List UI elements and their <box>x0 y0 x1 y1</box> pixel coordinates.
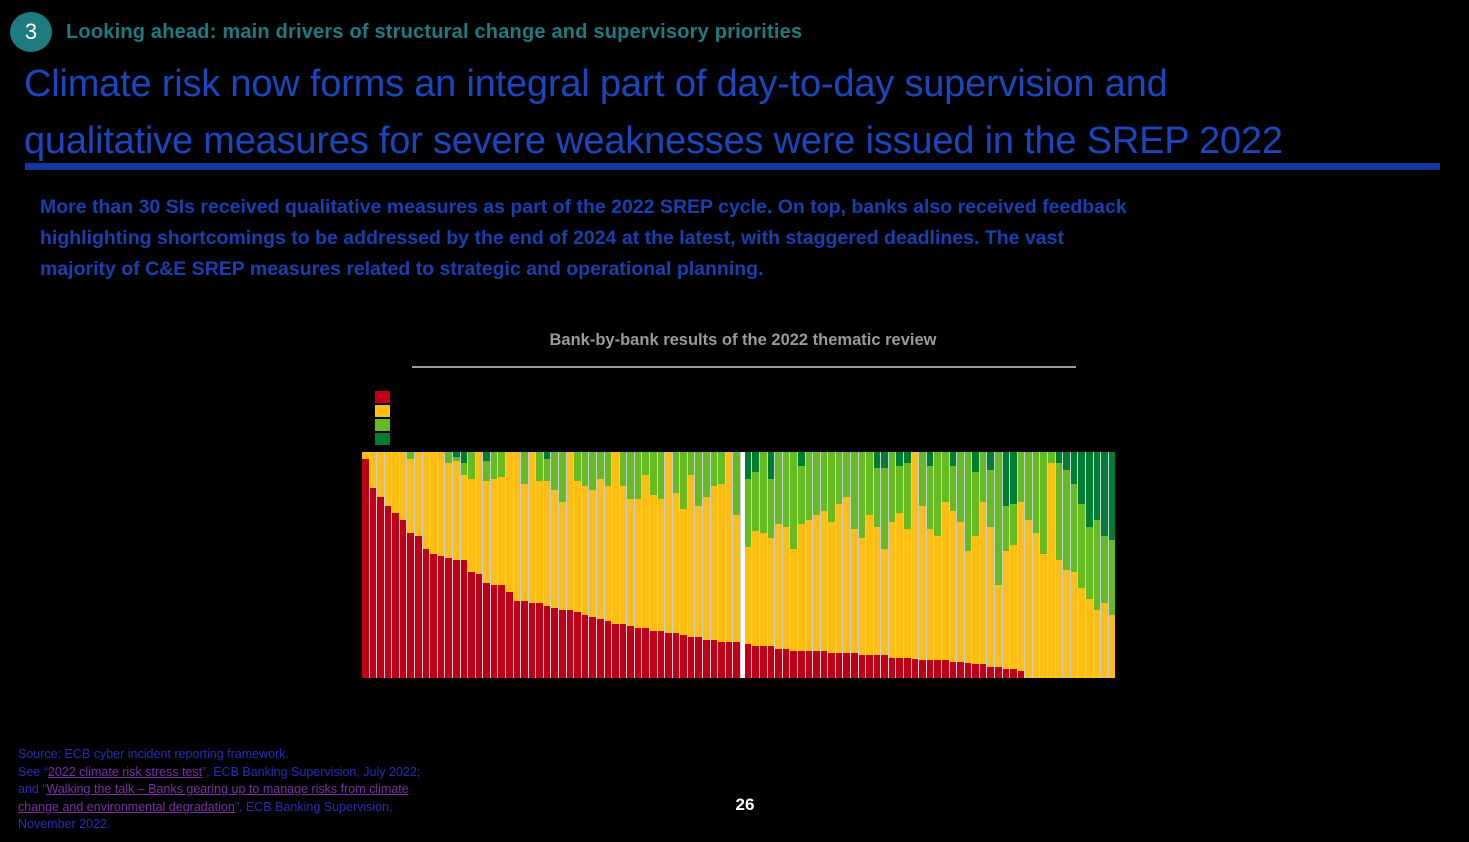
bar-segment-red <box>950 662 957 678</box>
bar-segment-lightgreen <box>836 452 843 504</box>
bar-segment-amber <box>597 479 604 619</box>
bar-segment-darkgreen <box>745 452 752 479</box>
bar-segment-lightgreen <box>965 452 972 551</box>
bar-segment-lightgreen <box>1101 536 1108 604</box>
bar-segment-red <box>851 653 858 678</box>
bar-segment-red <box>559 610 566 678</box>
bar-column <box>695 452 702 678</box>
bar-segment-amber <box>821 511 828 651</box>
bar-column <box>775 452 782 678</box>
bar-column <box>582 452 589 678</box>
bar-segment-lightgreen <box>775 452 782 524</box>
bar-segment-lightgreen <box>650 452 657 495</box>
bar-segment-amber <box>711 486 718 640</box>
bar-column <box>1003 452 1010 678</box>
bar-column <box>813 452 820 678</box>
bar-segment-lightgreen <box>407 452 414 459</box>
bar-segment-lightgreen <box>904 463 911 529</box>
bar-segment-amber <box>688 475 695 638</box>
bar-segment-lightgreen <box>483 461 490 481</box>
link-climate-risk-stress-test[interactable]: 2022 climate risk stress test <box>48 765 202 779</box>
chart-legend <box>375 391 390 445</box>
bar-segment-red <box>461 560 468 678</box>
bar-segment-red <box>718 642 725 678</box>
bar-segment-darkgreen <box>1078 452 1085 504</box>
bar-segment-amber <box>813 515 820 651</box>
bar-segment-red <box>775 649 782 678</box>
bar-segment-red <box>934 660 941 678</box>
bar-segment-red <box>370 488 377 678</box>
bar-column <box>385 452 392 678</box>
bar-segment-amber <box>673 493 680 633</box>
bar-column <box>859 452 866 678</box>
bar-column <box>711 452 718 678</box>
bar-segment-darkgreen <box>1056 452 1063 463</box>
bar-segment-lightgreen <box>798 466 805 525</box>
bar-column <box>874 452 881 678</box>
bar-column <box>843 452 850 678</box>
bar-segment-lightgreen <box>843 452 850 497</box>
bar-segment-amber <box>798 524 805 651</box>
bar-column <box>987 452 994 678</box>
bar-segment-lightgreen <box>950 466 957 511</box>
bar-segment-amber <box>904 529 911 658</box>
bar-segment-lightgreen <box>889 452 896 522</box>
bar-segment-red <box>423 549 430 678</box>
bar-column <box>821 452 828 678</box>
bar-segment-red <box>821 651 828 678</box>
bar-segment-amber <box>695 506 702 637</box>
bar-column <box>370 452 377 678</box>
bar-segment-amber <box>1033 533 1040 678</box>
bar-segment-red <box>859 655 866 678</box>
bar-segment-amber <box>828 522 835 653</box>
bar-segment-red <box>695 637 702 678</box>
bar-segment-amber <box>642 475 649 629</box>
bar-segment-lightgreen <box>627 452 634 499</box>
bar-column <box>866 452 873 678</box>
bar-segment-amber <box>760 533 767 646</box>
bar-segment-darkgreen <box>1109 452 1115 540</box>
bar-segment-darkgreen <box>927 452 934 466</box>
bar-segment-lightgreen <box>896 466 903 513</box>
bar-segment-darkgreen <box>874 452 881 468</box>
bar-segment-red <box>597 619 604 678</box>
bar-segment-darkgreen <box>1010 452 1017 504</box>
bar-segment-amber <box>934 536 941 660</box>
bar-segment-red <box>498 585 505 678</box>
title-underline <box>25 163 1440 170</box>
bar-segment-amber <box>874 527 881 656</box>
bar-segment-amber <box>680 509 687 636</box>
bar-segment-red <box>536 603 543 678</box>
bar-segment-darkgreen <box>972 452 979 472</box>
bar-segment-red <box>506 592 513 678</box>
bar-column <box>673 452 680 678</box>
bar-segment-amber <box>430 452 437 554</box>
bar-column <box>881 452 888 678</box>
bar-column <box>1056 452 1063 678</box>
bar-column <box>605 452 612 678</box>
bar-column <box>1086 452 1093 678</box>
bar-segment-lightgreen <box>589 452 596 490</box>
bar-segment-amber <box>445 463 452 558</box>
bar-segment-amber <box>919 506 926 660</box>
bar-segment-lightgreen <box>688 452 695 475</box>
bar-segment-lightgreen <box>874 468 881 527</box>
bar-column <box>627 452 634 678</box>
bar-segment-red <box>1003 669 1010 678</box>
bar-segment-red <box>680 635 687 678</box>
bar-segment-red <box>798 651 805 678</box>
bar-column <box>760 452 767 678</box>
bar-segment-amber <box>650 495 657 631</box>
bar-column <box>703 452 710 678</box>
bar-column <box>718 452 725 678</box>
bar-segment-amber <box>1078 588 1085 678</box>
page-title: Climate risk now forms an integral part … <box>24 56 1444 170</box>
bar-segment-lightgreen <box>1109 540 1115 615</box>
bar-column <box>904 452 911 678</box>
bar-segment-amber <box>605 486 612 622</box>
bar-segment-red <box>813 651 820 678</box>
bar-segment-red <box>768 646 775 678</box>
bar-column <box>942 452 949 678</box>
bar-column <box>1094 452 1101 678</box>
bar-segment-amber <box>1071 572 1078 678</box>
bar-column <box>415 452 422 678</box>
source-line-4: change and environmental degradation”, E… <box>18 799 538 817</box>
bar-column <box>950 452 957 678</box>
bar-column <box>514 452 521 678</box>
bar-column <box>567 452 574 678</box>
bar-segment-red <box>362 459 369 678</box>
bar-segment-amber <box>589 490 596 617</box>
bar-segment-amber <box>1025 520 1032 678</box>
bar-segment-red <box>912 659 919 678</box>
bar-column <box>1040 452 1047 678</box>
bar-segment-amber <box>544 481 551 605</box>
bar-segment-red <box>483 583 490 678</box>
source-line-5: November 2022. <box>18 816 538 834</box>
bar-column <box>912 452 919 678</box>
bar-segment-lightgreen <box>881 468 888 549</box>
bar-segment-lightgreen <box>919 452 926 506</box>
bar-segment-darkgreen <box>461 452 468 463</box>
bar-segment-darkgreen <box>1094 452 1101 520</box>
bar-column <box>529 452 536 678</box>
bar-column <box>934 452 941 678</box>
bar-segment-lightgreen <box>790 452 797 549</box>
source-line-3: and “Walking the talk – Banks gearing up… <box>18 781 538 799</box>
bar-segment-darkgreen <box>798 452 805 466</box>
bar-segment-red <box>445 558 452 678</box>
bar-segment-amber <box>896 513 903 658</box>
chart-title: Bank-by-bank results of the 2022 themati… <box>410 331 1076 350</box>
bar-segment-amber <box>1109 615 1115 678</box>
bar-column <box>1025 452 1032 678</box>
bar-segment-lightgreen <box>1056 463 1063 560</box>
bar-segment-lightgreen <box>711 452 718 486</box>
bar-segment-amber <box>783 527 790 649</box>
bar-segment-lightgreen <box>972 472 979 535</box>
bar-segment-red <box>650 631 657 678</box>
bar-column <box>828 452 835 678</box>
bar-segment-lightgreen <box>1040 452 1047 554</box>
bar-segment-red <box>407 533 414 678</box>
bar-segment-amber <box>658 499 665 630</box>
bar-column <box>1018 452 1025 678</box>
bar-column <box>392 452 399 678</box>
bar-segment-red <box>980 664 987 678</box>
bar-column <box>896 452 903 678</box>
bar-segment-amber <box>843 497 850 653</box>
bar-column <box>927 452 934 678</box>
bar-column <box>1063 452 1070 678</box>
bar-column <box>957 452 964 678</box>
bar-segment-amber <box>745 547 752 644</box>
bar-segment-red <box>995 667 1002 678</box>
bar-segment-red <box>438 556 445 678</box>
bar-segment-darkgreen <box>1071 452 1078 484</box>
bar-segment-amber <box>476 452 483 574</box>
bar-segment-lightgreen <box>745 479 752 547</box>
bar-segment-red <box>1010 669 1017 678</box>
source-mid-1: ”, ECB Banking Supervision, July 2022; <box>202 765 420 779</box>
bar-segment-amber <box>957 522 964 662</box>
bar-segment-amber <box>506 452 513 592</box>
bar-segment-amber <box>836 504 843 653</box>
bar-segment-lightgreen <box>635 452 642 499</box>
bar-column <box>476 452 483 678</box>
bar-segment-amber <box>1003 551 1010 669</box>
bar-column <box>377 452 384 678</box>
bar-column <box>995 452 1002 678</box>
bar-column <box>635 452 642 678</box>
bar-segment-red <box>665 633 672 678</box>
bar-segment-red <box>544 606 551 678</box>
source-line-1: Source: ECB cyber incident reporting fra… <box>18 746 538 764</box>
bar-segment-darkgreen <box>1063 452 1070 470</box>
bar-segment-darkgreen <box>904 452 911 463</box>
bar-segment-lightgreen <box>1071 484 1078 572</box>
bar-segment-amber <box>1063 570 1070 678</box>
bar-segment-amber <box>965 551 972 663</box>
bar-column <box>726 452 733 678</box>
bar-segment-lightgreen <box>1094 520 1101 610</box>
bar-segment-amber <box>806 520 813 651</box>
bar-column <box>559 452 566 678</box>
bar-column <box>506 452 513 678</box>
source-see-prefix: See “ <box>18 765 48 779</box>
bar-column <box>783 452 790 678</box>
link-walking-the-talk-cont[interactable]: change and environmental degradation <box>18 800 235 814</box>
bar-column <box>400 452 407 678</box>
bar-column <box>972 452 979 678</box>
bar-column <box>658 452 665 678</box>
bar-segment-red <box>828 653 835 678</box>
bar-segment-red <box>726 642 733 678</box>
bar-segment-red <box>574 612 581 678</box>
bar-segment-amber <box>468 479 475 572</box>
bar-segment-lightgreen <box>605 452 612 486</box>
bar-segment-amber <box>377 452 384 497</box>
bar-segment-red <box>476 574 483 678</box>
bar-column <box>362 452 369 678</box>
bar-segment-lightgreen <box>752 472 759 531</box>
bar-segment-amber <box>392 452 399 513</box>
bar-segment-darkgreen <box>881 452 888 468</box>
bar-segment-lightgreen <box>1018 452 1025 502</box>
bar-segment-red <box>673 633 680 678</box>
bar-segment-red <box>642 628 649 678</box>
link-walking-the-talk[interactable]: Walking the talk – Banks gearing up to m… <box>47 782 409 796</box>
bar-segment-red <box>836 653 843 678</box>
bar-segment-amber <box>851 529 858 653</box>
bar-segment-lightgreen <box>491 452 498 479</box>
bar-segment-lightgreen <box>673 452 680 493</box>
bar-column <box>430 452 437 678</box>
bar-segment-amber <box>1086 599 1093 678</box>
intro-paragraph: More than 30 SIs received qualitative me… <box>40 192 1438 285</box>
bar-segment-lightgreen <box>806 452 813 520</box>
bar-column <box>1071 452 1078 678</box>
legend-swatch-amber <box>375 405 390 417</box>
bar-segment-red <box>430 554 437 678</box>
bar-segment-red <box>491 585 498 678</box>
bar-column <box>889 452 896 678</box>
bar-segment-darkgreen <box>768 452 775 479</box>
bar-column <box>423 452 430 678</box>
bar-segment-red <box>711 640 718 678</box>
bar-segment-amber <box>536 481 543 603</box>
bar-segment-lightgreen <box>934 452 941 536</box>
bar-segment-darkgreen <box>1101 452 1108 536</box>
bar-column <box>798 452 805 678</box>
bar-segment-red <box>957 662 964 678</box>
slide: 3 Looking ahead: main drivers of structu… <box>0 0 1469 842</box>
bar-segment-amber <box>1094 610 1101 678</box>
bar-segment-lightgreen <box>987 470 994 527</box>
bar-column <box>521 452 528 678</box>
bar-column <box>597 452 604 678</box>
bar-segment-red <box>703 640 710 678</box>
bar-column <box>851 452 858 678</box>
source-mid-2: ”, ECB Banking Supervision, <box>235 800 393 814</box>
bar-segment-lightgreen <box>1048 452 1055 463</box>
bar-segment-amber <box>415 452 422 536</box>
bar-segment-amber <box>423 452 430 549</box>
bar-segment-amber <box>912 452 919 659</box>
bar-segment-red <box>658 631 665 678</box>
bar-segment-lightgreen <box>1078 504 1085 588</box>
stacked-bar-chart-plot <box>362 452 1115 678</box>
bar-column <box>745 452 752 678</box>
bar-segment-amber <box>362 452 369 459</box>
bar-segment-red <box>843 653 850 678</box>
bar-segment-lightgreen <box>597 452 604 479</box>
bar-segment-lightgreen <box>468 452 475 479</box>
bar-segment-lightgreen <box>942 452 949 502</box>
bar-segment-amber <box>453 461 460 560</box>
bar-segment-darkgreen <box>483 452 490 461</box>
bar-column <box>483 452 490 678</box>
bar-column <box>665 452 672 678</box>
bar-segment-lightgreen <box>718 452 725 484</box>
bar-segment-lightgreen <box>1063 470 1070 569</box>
bar-segment-amber <box>980 502 987 665</box>
bar-column <box>790 452 797 678</box>
bar-segment-amber <box>635 499 642 628</box>
bar-segment-amber <box>1101 603 1108 678</box>
source-and-prefix: and “ <box>18 782 47 796</box>
bar-segment-darkgreen <box>896 452 903 466</box>
bar-column <box>768 452 775 678</box>
bar-segment-red <box>733 642 740 678</box>
bar-segment-amber <box>972 536 979 665</box>
bar-segment-lightgreen <box>551 452 558 490</box>
bar-segment-lightgreen <box>859 452 866 538</box>
bar-column <box>688 452 695 678</box>
bar-column <box>965 452 972 678</box>
bar-segment-red <box>612 624 619 678</box>
bar-segment-darkgreen <box>544 452 551 459</box>
bar-column <box>836 452 843 678</box>
bar-segment-red <box>874 655 881 678</box>
bar-segment-amber <box>752 531 759 646</box>
bar-segment-red <box>783 649 790 678</box>
bar-segment-lightgreen <box>1010 504 1017 545</box>
bar-segment-red <box>392 513 399 678</box>
bar-column <box>1048 452 1055 678</box>
bar-segment-amber <box>881 549 888 655</box>
bar-segment-red <box>589 617 596 678</box>
bar-segment-lightgreen <box>1086 527 1093 599</box>
bar-column <box>445 452 452 678</box>
bar-column <box>1033 452 1040 678</box>
bar-segment-lightgreen <box>498 452 505 477</box>
bar-segment-red <box>415 536 422 678</box>
chart-title-underline <box>412 366 1076 368</box>
bar-segment-amber <box>521 484 528 602</box>
bar-segment-red <box>790 651 797 678</box>
bar-column <box>438 452 445 678</box>
bar-segment-lightgreen <box>695 452 702 506</box>
bar-segment-amber <box>1018 502 1025 672</box>
bar-segment-lightgreen <box>445 452 452 463</box>
bar-segment-amber <box>385 452 392 506</box>
bar-column <box>574 452 581 678</box>
legend-swatch-red <box>375 391 390 403</box>
section-number-badge: 3 <box>10 12 52 52</box>
bar-column <box>919 452 926 678</box>
bar-segment-red <box>453 560 460 678</box>
bar-segment-lightgreen <box>461 463 468 474</box>
bar-segment-lightgreen <box>642 452 649 475</box>
bar-segment-darkgreen <box>950 452 957 466</box>
bar-segment-lightgreen <box>1003 506 1010 551</box>
bar-segment-amber <box>718 484 725 642</box>
bar-segment-lightgreen <box>521 452 528 484</box>
bar-segment-red <box>987 667 994 678</box>
bar-segment-amber <box>1040 554 1047 678</box>
bar-segment-amber <box>775 524 782 648</box>
bar-column <box>980 452 987 678</box>
bar-segment-lightgreen <box>658 452 665 499</box>
bar-segment-lightgreen <box>957 452 964 522</box>
bar-segment-amber <box>483 481 490 583</box>
bar-segment-amber <box>514 452 521 601</box>
